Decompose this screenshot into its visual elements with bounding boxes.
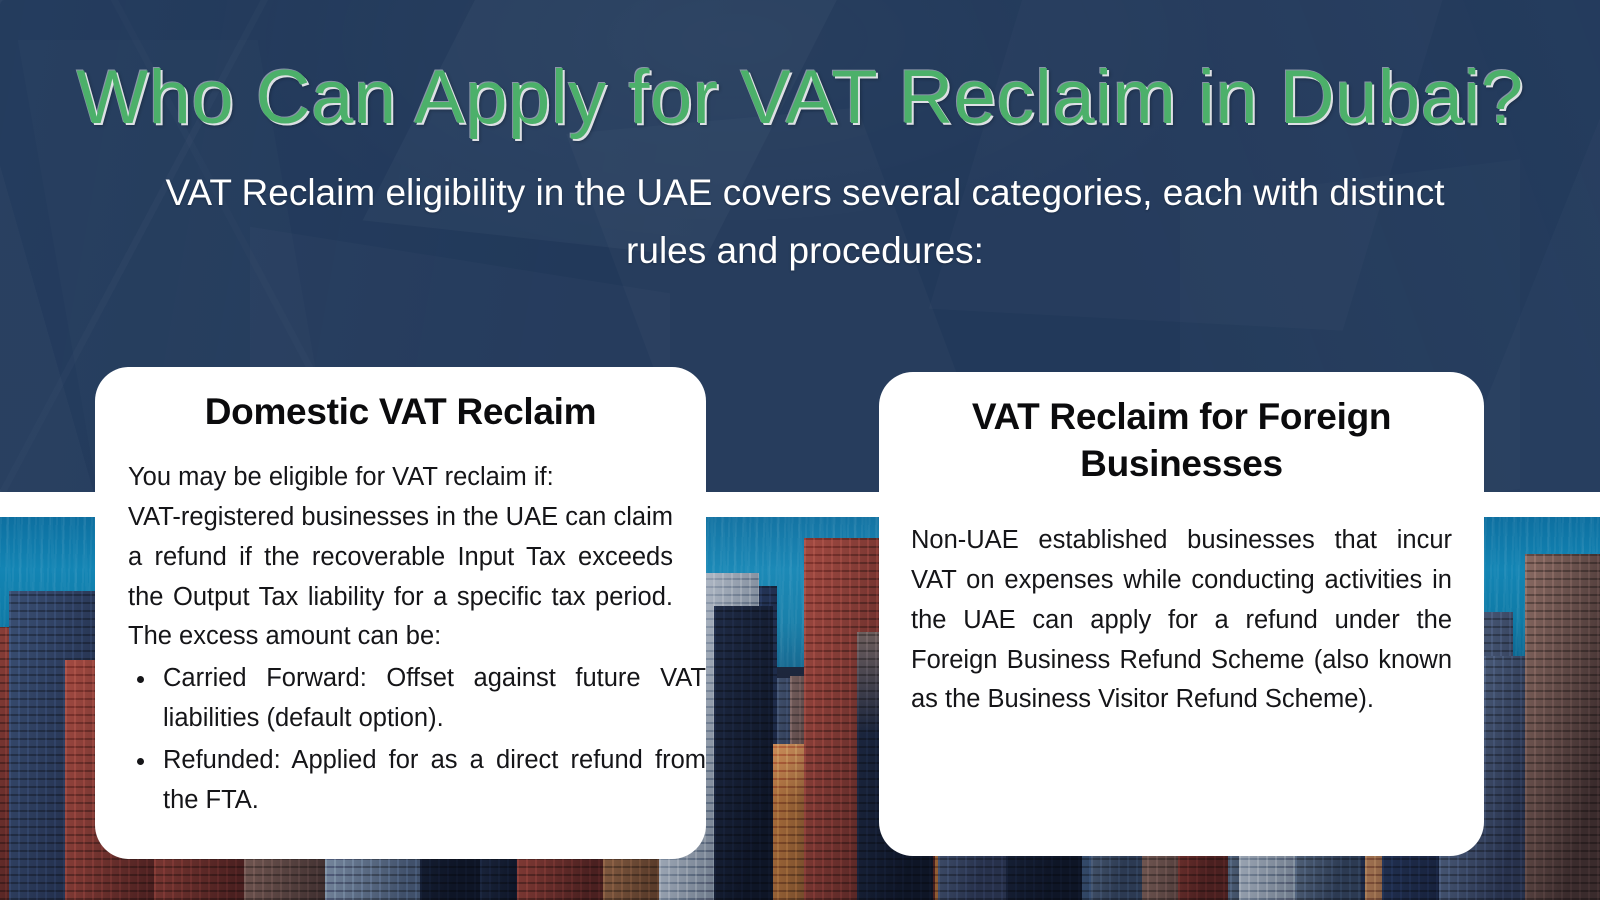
card-left-bullet-list: Carried Forward: Offset against future V… [157,659,706,820]
card-domestic-vat-reclaim: Domestic VAT Reclaim You may be eligible… [95,367,706,859]
card-left-bullet-item: Refunded: Applied for as a direct refund… [157,741,706,821]
card-left-lead: You may be eligible for VAT reclaim if: [128,458,673,498]
building [714,606,773,900]
card-left-bullet-item: Carried Forward: Offset against future V… [157,659,706,739]
card-foreign-business-vat-reclaim: VAT Reclaim for Foreign Businesses Non-U… [879,372,1484,856]
card-left-paragraph: VAT-registered businesses in the UAE can… [128,498,673,657]
card-left-body: You may be eligible for VAT reclaim if: … [128,458,673,657]
card-left-title: Domestic VAT Reclaim [119,390,682,434]
infographic-canvas: Who Can Apply for VAT Reclaim in Dubai? … [0,0,1600,900]
page-subtitle: VAT Reclaim eligibility in the UAE cover… [165,164,1445,281]
card-right-body: Non-UAE established businesses that incu… [911,521,1452,720]
page-title: Who Can Apply for VAT Reclaim in Dubai? [0,54,1600,141]
card-right-title: VAT Reclaim for Foreign Businesses [919,394,1444,487]
building [1525,554,1600,900]
